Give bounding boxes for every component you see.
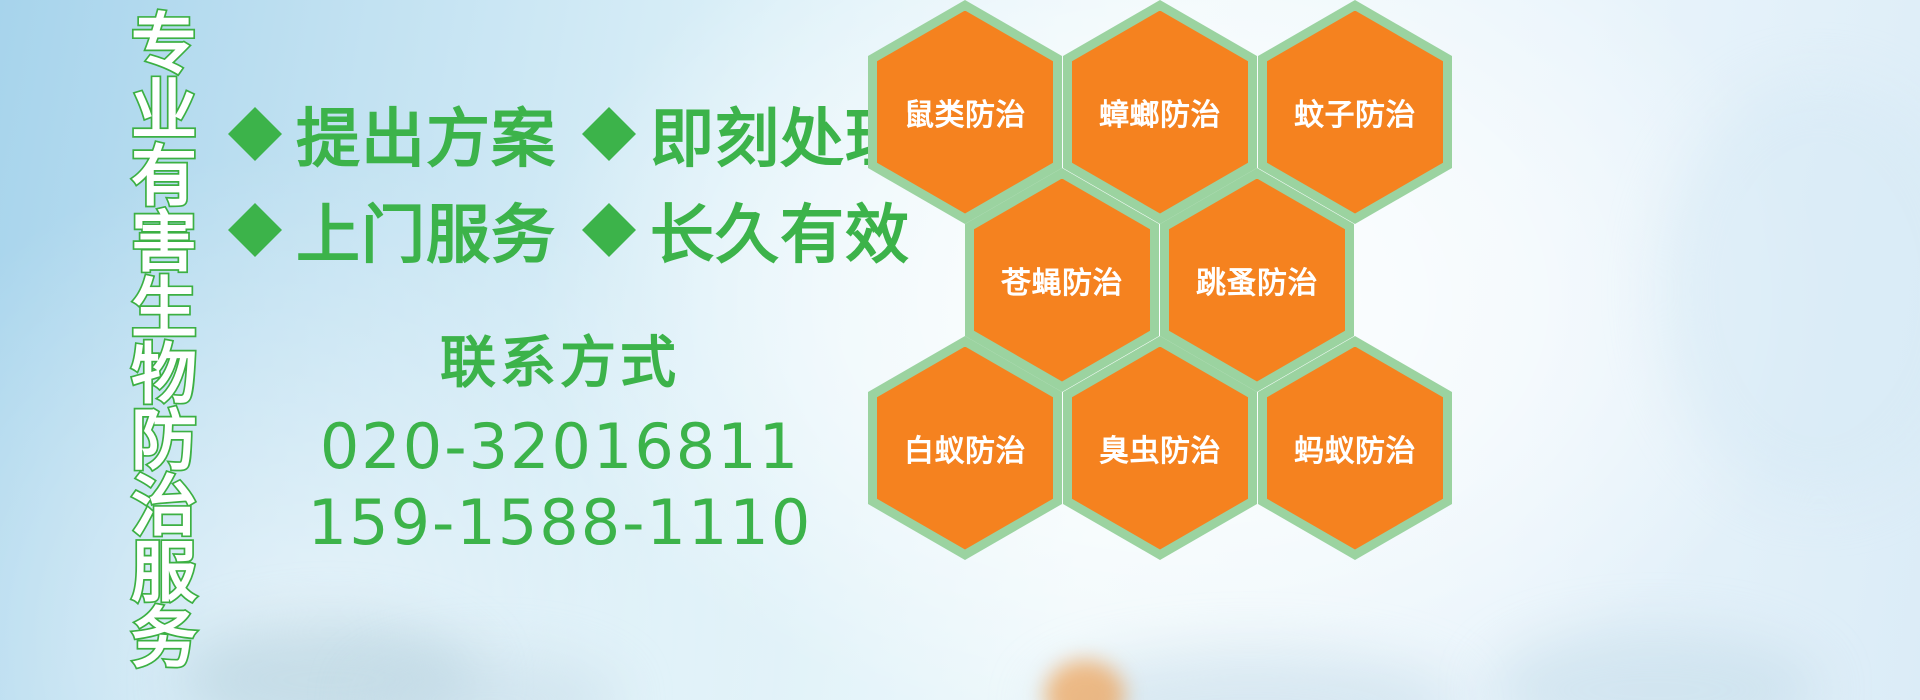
feature-label: 上门服务 (296, 184, 556, 276)
service-hexagon-inner: 蟑螂防治 (1072, 11, 1248, 214)
contact-block: 联系方式 020-32016811 159-1588-1110 (300, 318, 820, 560)
service-hexagon-inner: 蚊子防治 (1267, 11, 1443, 214)
feature-label: 提出方案 (296, 88, 556, 180)
service-hexagon-inner: 白蚁防治 (877, 347, 1053, 550)
vertical-title-char: 专 (131, 12, 197, 78)
service-label: 白蚁防治 (904, 426, 1026, 470)
service-label: 苍蝇防治 (1001, 258, 1123, 302)
vertical-title-char: 生 (131, 276, 197, 342)
service-hexagon-grid: 鼠类防治 蟑螂防治 蚊子防治 苍蝇防治 跳蚤防治 白蚁防治 (862, 0, 1462, 554)
service-hexagon-inner: 蚂蚁防治 (1267, 347, 1443, 550)
diamond-icon (582, 80, 636, 134)
service-label: 臭虫防治 (1099, 426, 1221, 470)
service-label: 蚂蚁防治 (1294, 426, 1416, 470)
feature-item: 即刻处理 (582, 88, 910, 180)
vertical-title-char: 务 (131, 606, 197, 672)
background-blob (1660, 80, 1920, 500)
vertical-title-char: 有 (131, 144, 197, 210)
service-label: 跳蚤防治 (1196, 258, 1318, 302)
vertical-title-char: 服 (131, 540, 197, 606)
service-hexagon-inner: 跳蚤防治 (1169, 179, 1345, 382)
service-hexagon-inner: 鼠类防治 (877, 11, 1053, 214)
background-blob (1045, 660, 1125, 700)
vertical-title-char: 业 (131, 78, 197, 144)
service-label: 鼠类防治 (904, 90, 1026, 134)
service-hexagon-inner: 臭虫防治 (1072, 347, 1248, 550)
diamond-icon (582, 176, 636, 230)
contact-title: 联系方式 (300, 318, 820, 399)
feature-item: 提出方案 (228, 88, 556, 180)
vertical-title-char: 防 (131, 408, 197, 474)
diamond-icon (228, 176, 282, 230)
diamond-icon (228, 80, 282, 134)
phone-number-mobile[interactable]: 159-1588-1110 (300, 485, 820, 561)
vertical-title-char: 害 (131, 210, 197, 276)
vertical-title: 专 业 有 害 生 物 防 治 服 务 (104, 12, 224, 588)
feature-item: 长久有效 (582, 184, 910, 276)
background-blob (360, 655, 620, 700)
background-blob (180, 620, 480, 700)
background-blob (1040, 650, 1460, 700)
feature-row: 提出方案 即刻处理 (228, 86, 868, 182)
background-blob (1490, 630, 1820, 700)
feature-item: 上门服务 (228, 184, 556, 276)
pest-control-banner: 专 业 有 害 生 物 防 治 服 务 提出方案 即刻处理 上门服务 (0, 0, 1920, 700)
vertical-title-char: 治 (131, 474, 197, 540)
phone-number-landline[interactable]: 020-32016811 (300, 409, 820, 485)
service-hexagon-inner: 苍蝇防治 (974, 179, 1150, 382)
feature-list: 提出方案 即刻处理 上门服务 长久有效 (228, 86, 868, 278)
service-label: 蚊子防治 (1294, 90, 1416, 134)
service-label: 蟑螂防治 (1099, 90, 1221, 134)
vertical-title-char: 物 (131, 342, 197, 408)
feature-row: 上门服务 长久有效 (228, 182, 868, 278)
